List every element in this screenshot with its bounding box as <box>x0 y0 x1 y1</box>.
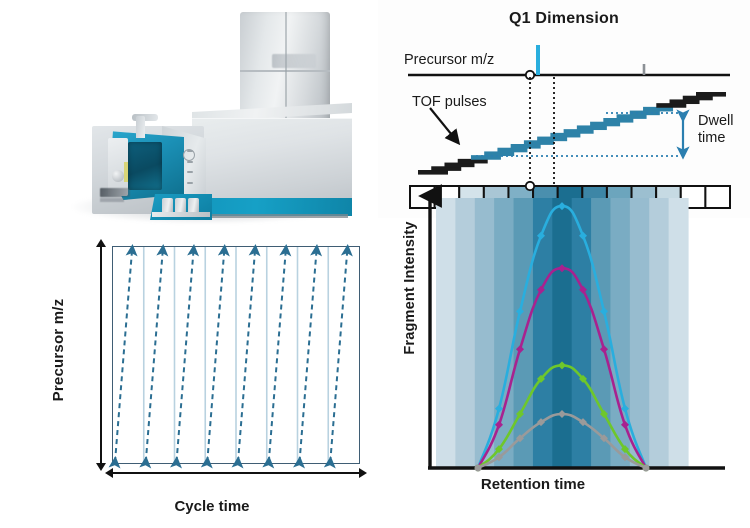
instrument-photo-panel <box>44 2 378 234</box>
instrument-logo-icon <box>100 188 130 197</box>
instrument-tray-lip <box>152 212 210 217</box>
instrument-source-window <box>128 142 162 190</box>
chromatogram-x-axis-label: Retention time <box>408 476 658 493</box>
chromatogram-panel: Fragment Intensity Retention time <box>378 180 750 528</box>
cycle-x-axis-label: Cycle time <box>52 498 372 515</box>
cycle-x-axis-arrow <box>112 472 360 474</box>
instrument-illustration <box>44 2 378 234</box>
instrument-model-text-blur <box>100 198 124 202</box>
instrument-adjust-knob <box>112 170 124 182</box>
figure-root: Precursor m/z Cycle time Q1 Dimension Pr… <box>0 0 750 528</box>
cycle-y-axis-arrow <box>100 246 102 464</box>
instrument-brand-emboss-icon <box>272 54 316 68</box>
chromatogram-svg <box>378 180 750 480</box>
instrument-status-leds <box>187 150 193 184</box>
instrument-body-foot <box>196 214 348 218</box>
instrument-probe-arm <box>136 116 145 138</box>
instrument-yellow-indicator <box>124 162 128 182</box>
cycle-time-panel: Precursor m/z Cycle time <box>52 234 372 528</box>
